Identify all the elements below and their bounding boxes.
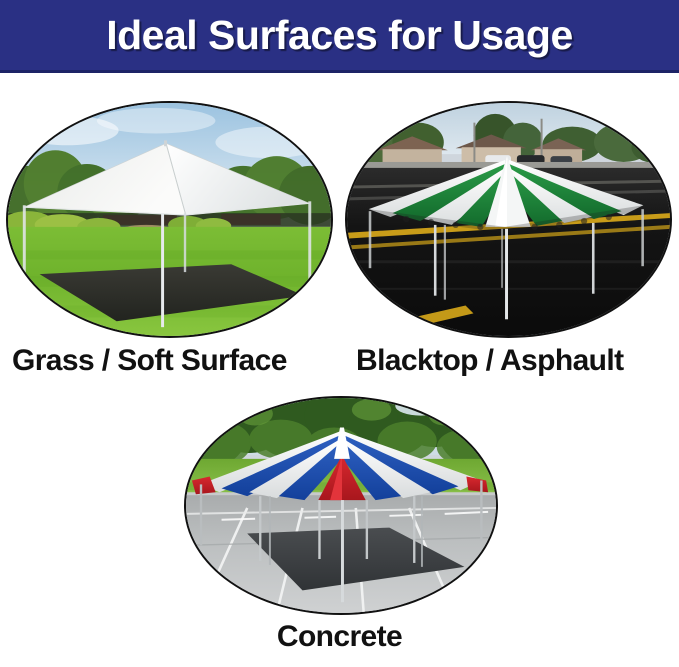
photo-oval-asphalt: [345, 101, 672, 338]
grass-tent-illustration: [8, 103, 331, 336]
photo-oval-grass: [6, 101, 333, 338]
caption-concrete: Concrete: [0, 620, 679, 654]
header-banner: Ideal Surfaces for Usage: [0, 0, 679, 73]
page-title: Ideal Surfaces for Usage: [106, 15, 573, 56]
caption-grass: Grass / Soft Surface: [12, 344, 287, 378]
asphalt-tent-illustration: [347, 103, 670, 336]
photo-oval-concrete: [184, 396, 498, 615]
infographic-page: Ideal Surfaces for Usage: [0, 0, 679, 667]
caption-asphalt: Blacktop / Asphault: [356, 344, 624, 378]
concrete-tent-illustration: [186, 398, 496, 613]
